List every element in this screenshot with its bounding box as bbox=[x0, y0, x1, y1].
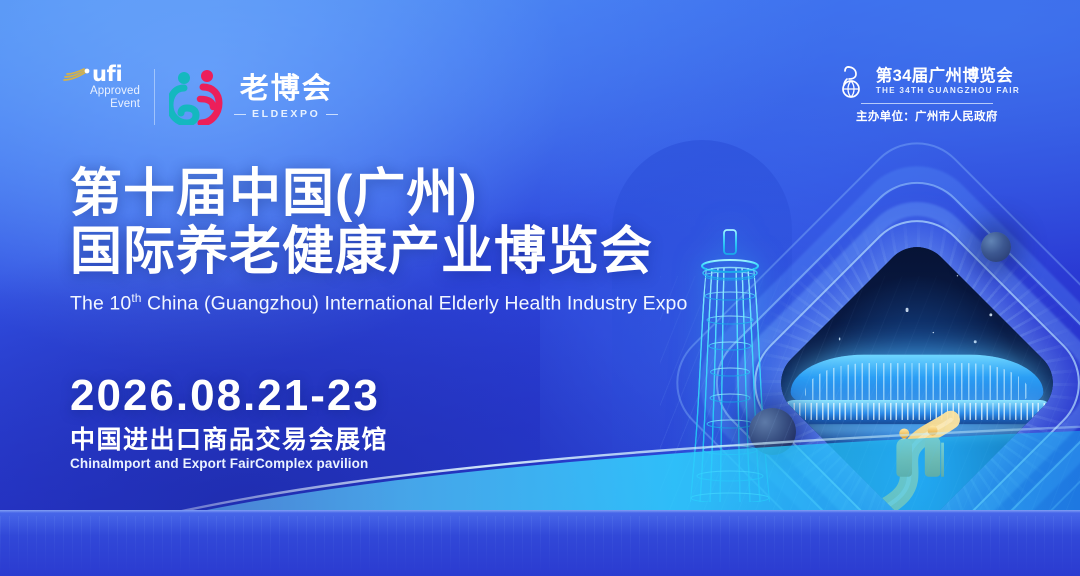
event-date: 2026.08.21-23 bbox=[70, 372, 388, 420]
eldexpo-name-cn: 老博会 bbox=[240, 74, 333, 105]
subtitle-en: The 10th China (Guangzhou) International… bbox=[70, 291, 690, 316]
guangzhou-fair-emblem-icon bbox=[834, 64, 868, 98]
title-line-2: 国际养老健康产业博览会 bbox=[70, 223, 690, 281]
hall-reflection bbox=[793, 426, 1040, 446]
guangzhou-fair-host-line: 主办单位：广州市人民政府 bbox=[856, 108, 998, 124]
guangzhou-fair-logo: 第34届广州博览会 THE 34TH GUANGZHOU FAIR 主办单位：广… bbox=[834, 64, 1020, 124]
eldexpo-logo: 老博会 ELDEXPO bbox=[169, 69, 338, 125]
ground-plane bbox=[0, 510, 1080, 576]
logo-divider bbox=[154, 69, 155, 125]
decorative-sphere-small bbox=[981, 232, 1011, 262]
hall-roof bbox=[791, 355, 1044, 409]
figure-left bbox=[894, 428, 914, 476]
eldexpo-dash-right bbox=[326, 114, 338, 115]
venue-name-en: ChinaImport and Export FairComplex pavil… bbox=[70, 456, 388, 472]
diamond-ring-2 bbox=[694, 160, 1080, 576]
subtitle-prefix: The 10 bbox=[70, 293, 131, 315]
star-field bbox=[767, 233, 1067, 533]
golden-path bbox=[840, 409, 1008, 533]
ufi-event-label: Event bbox=[62, 98, 140, 111]
light-streaks bbox=[660, 276, 1080, 536]
ground-grid bbox=[0, 516, 1080, 576]
hall-base bbox=[782, 401, 1052, 425]
header: ufi Approved Event bbox=[0, 0, 1080, 150]
diamond-scene-panel bbox=[767, 233, 1067, 533]
diamond-ring-1 bbox=[654, 120, 1080, 576]
eldexpo-figures-icon bbox=[169, 69, 223, 125]
diamond-rings-group bbox=[702, 168, 1080, 576]
venue-name-cn: 中国进出口商品交易会展馆 bbox=[70, 426, 388, 455]
figure-right bbox=[923, 426, 943, 477]
ufi-approved-event-logo: ufi Approved Event bbox=[62, 66, 140, 128]
diamond-ring-3 bbox=[732, 198, 1080, 569]
light-burst bbox=[752, 218, 1080, 548]
poster-canvas: ufi Approved Event bbox=[0, 0, 1080, 576]
left-logo-group: ufi Approved Event bbox=[62, 66, 338, 128]
eldexpo-dash-left bbox=[234, 114, 246, 115]
guangzhou-fair-title-en: THE 34TH GUANGZHOU FAIR bbox=[876, 86, 1020, 96]
guangzhou-fair-rule bbox=[861, 103, 993, 104]
ufi-wordmark: ufi bbox=[92, 66, 122, 83]
ufi-approved-label: Approved bbox=[62, 85, 140, 98]
subtitle-rest: China (Guangzhou) International Elderly … bbox=[142, 293, 688, 315]
subtitle-ordinal: th bbox=[131, 291, 141, 305]
exhibition-hall-building bbox=[782, 355, 1052, 435]
ufi-swoosh-icon bbox=[62, 67, 90, 83]
eldexpo-name-en: ELDEXPO bbox=[252, 108, 320, 120]
diamond-ring-band-outer bbox=[674, 140, 1080, 576]
title-line-1: 第十届中国(广州) bbox=[70, 165, 690, 223]
date-venue-block: 2026.08.21-23 中国进出口商品交易会展馆 ChinaImport a… bbox=[70, 372, 388, 472]
decorative-sphere-large bbox=[749, 408, 796, 455]
diamond-ring-band-inner bbox=[712, 178, 1080, 576]
title-block: 第十届中国(广州) 国际养老健康产业博览会 The 10th China (Gu… bbox=[70, 165, 690, 316]
diamond-scene-inner bbox=[767, 233, 1067, 533]
hall-base-grid bbox=[788, 404, 1046, 421]
guangzhou-fair-title-cn: 第34届广州博览会 bbox=[876, 67, 1020, 85]
hall-roof-ribs bbox=[805, 364, 1029, 407]
